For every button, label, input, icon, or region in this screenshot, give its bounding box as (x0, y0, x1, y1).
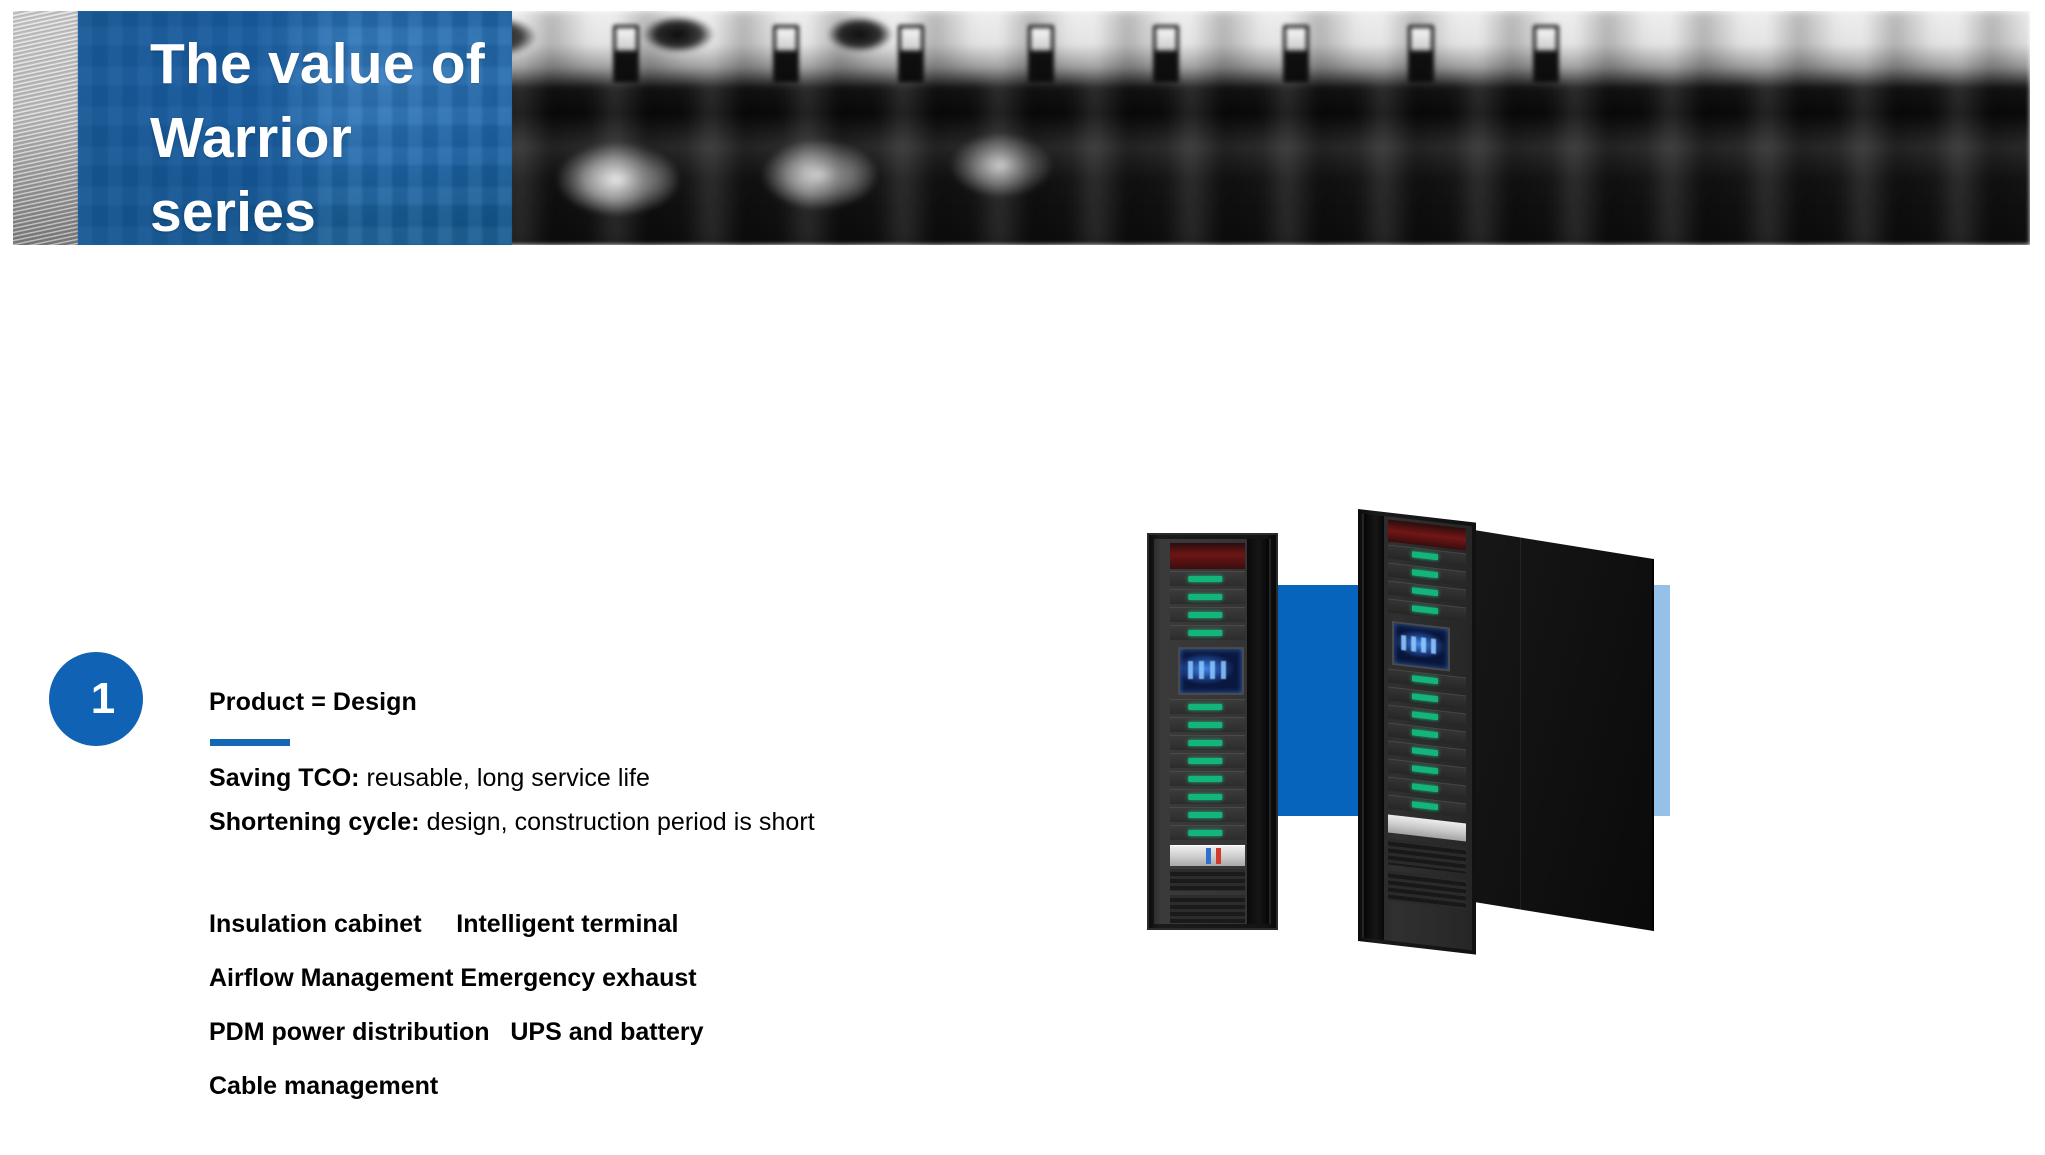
feature-row: Airflow Management Emergency exhaust (209, 957, 909, 999)
status-led (1188, 776, 1222, 782)
cabinet-equipment-shelf (1388, 870, 1466, 909)
server-cabinet-perspective (1350, 500, 1680, 970)
cabinet-module-slot (1170, 789, 1245, 804)
paragraph-shortening-cycle-text: design, construction period is short (420, 808, 815, 836)
status-led (1188, 704, 1222, 710)
cabinet-module-slot (1170, 699, 1245, 714)
cabinet-breaker-row (1170, 845, 1245, 866)
feature-list: Insulation cabinet Intelligent terminal … (209, 903, 909, 1119)
status-led (1188, 612, 1222, 618)
banner-title-box: The value of Warrior series (78, 11, 512, 245)
status-led (1188, 830, 1222, 836)
status-led (1412, 675, 1438, 684)
status-led (1412, 729, 1438, 738)
paragraph-shortening-cycle-label: Shortening cycle: (209, 808, 420, 836)
cabinet-top-stripe (1170, 543, 1245, 569)
step-number-label: 1 (91, 674, 115, 724)
status-led (1188, 758, 1222, 764)
server-cabinet-front-body (1154, 539, 1271, 924)
cabinet-module-slot (1170, 607, 1245, 622)
cabinet-vent-grill (1388, 838, 1466, 873)
cabinet-front-door (1358, 509, 1476, 955)
status-led (1188, 576, 1222, 582)
paragraph-shortening-cycle: Shortening cycle: design, construction p… (209, 800, 899, 844)
cabinet-module-slot (1170, 771, 1245, 786)
paragraph-saving-tco: Saving TCO: reusable, long service life (209, 756, 899, 800)
accent-underline (210, 739, 290, 746)
paragraph-saving-tco-label: Saving TCO: (209, 764, 360, 792)
header-banner: The value of Warrior series (13, 11, 2030, 245)
cabinet-equipment-shelf (1170, 895, 1245, 923)
server-cabinet-front (1147, 533, 1278, 930)
cabinet-module-slot (1170, 625, 1245, 640)
status-led (1412, 569, 1438, 578)
status-led (1412, 783, 1438, 792)
status-led (1412, 551, 1438, 560)
status-led (1188, 794, 1222, 800)
section-heading: Product = Design (209, 688, 417, 717)
cabinet-module-slot (1170, 589, 1245, 604)
cabinet-breaker-row (1388, 814, 1466, 841)
cabinet-module-slot (1170, 807, 1245, 822)
status-led (1188, 722, 1222, 728)
cabinet-vent-grill (1170, 869, 1245, 891)
cabinet-artwork (1190, 492, 1950, 1155)
status-led (1188, 630, 1222, 636)
status-led (1188, 740, 1222, 746)
page-title: The value of Warrior series (150, 27, 510, 245)
status-led (1188, 594, 1222, 600)
cabinet-front-door-body (1362, 513, 1472, 950)
feature-row: PDM power distribution UPS and battery (209, 1011, 909, 1053)
step-number-badge: 1 (49, 652, 143, 746)
feature-row: Cable management (209, 1065, 909, 1107)
cabinet-lcd-display[interactable] (1178, 647, 1244, 695)
breaker-switch-blue (1206, 848, 1211, 864)
status-led (1412, 765, 1438, 774)
cabinet-right-stile (1247, 539, 1269, 924)
status-led (1412, 801, 1438, 810)
status-led (1412, 747, 1438, 756)
main-content: 1 Product = Design Saving TCO: reusable,… (0, 246, 2045, 909)
status-led (1412, 711, 1438, 720)
status-led (1188, 812, 1222, 818)
cabinet-module-slot (1170, 735, 1245, 750)
feature-row: Insulation cabinet Intelligent terminal (209, 903, 909, 945)
breaker-switch-red (1216, 848, 1221, 864)
paragraph-saving-tco-text: reusable, long service life (360, 764, 650, 792)
cabinet-lcd-display[interactable] (1392, 621, 1450, 672)
cabinet-module-slot (1170, 571, 1245, 586)
cabinet-module-slot (1170, 753, 1245, 768)
banner-left-texture-strip (13, 11, 81, 245)
status-led (1412, 693, 1438, 702)
cabinet-module-slot (1170, 825, 1245, 840)
status-led (1412, 587, 1438, 596)
status-led (1412, 605, 1438, 614)
cabinet-left-stile (1364, 514, 1384, 940)
cabinet-module-slot (1170, 717, 1245, 732)
cabinet-side-panel (1468, 529, 1654, 931)
